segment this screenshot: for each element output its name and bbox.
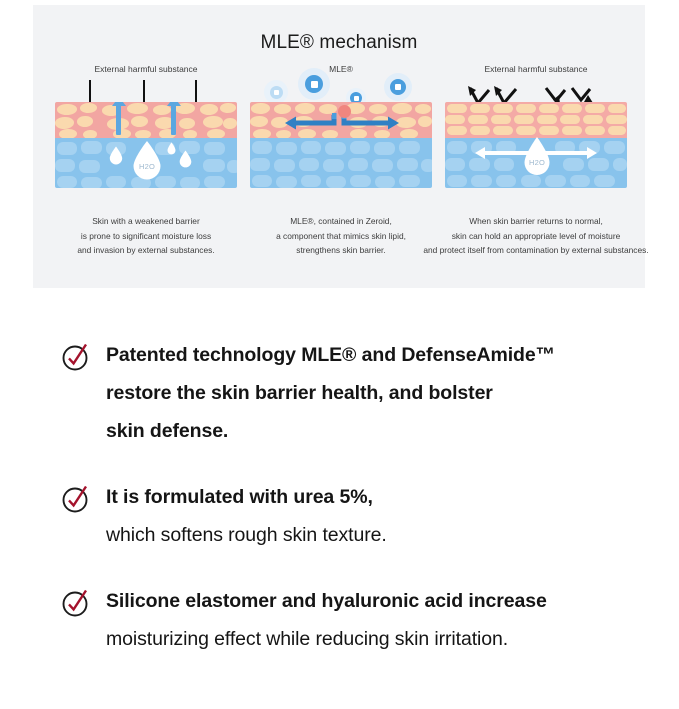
list-item-line: Patented technology MLE® and DefenseAmid… [106,336,679,374]
damage-spot-icon [338,105,351,118]
epidermis-layer [445,102,627,138]
water-droplet-icon [109,146,123,165]
diagram-title: MLE® mechanism [33,32,645,54]
mle-molecule-icon [264,80,288,104]
mle-molecule-icon [298,68,330,100]
panel-3-deflected-arrows [445,76,627,102]
list-item-line: restore the skin barrier health, and bol… [106,374,679,412]
list-item: Silicone elastomer and hyaluronic acid i… [0,582,679,658]
list-item: Patented technology MLE® and DefenseAmid… [0,336,679,450]
h2o-label: H2O [132,162,162,171]
check-circle-icon [60,483,92,515]
check-circle-icon [60,587,92,619]
list-item-line: which softens rough skin texture. [106,516,679,554]
panel-3-label: External harmful substance [445,63,627,75]
skin-cross-section-strengthening [250,102,432,188]
panel-1-incoming-arrows [55,76,237,102]
caption-line: When skin barrier returns to normal, [421,214,651,229]
panel-weakened-barrier: External harmful substance [55,63,237,188]
list-item: It is formulated with urea 5%, which sof… [0,478,679,554]
check-circle-icon [60,341,92,373]
panel-1-label: External harmful substance [55,63,237,75]
panel-2-molecules [250,76,432,102]
mle-mechanism-diagram: MLE® mechanism External harmful substanc… [33,5,645,288]
water-droplet-icon [179,150,192,168]
panel-2-label: MLE® [250,63,432,75]
skin-cross-section-weakened: H2O [55,102,237,188]
dermis-layer [250,138,432,188]
water-droplet-small-icon [167,142,176,155]
caption-line: and protect itself from contamination by… [421,243,651,258]
list-item-line: skin defense. [106,412,679,450]
h2o-label: H2O [523,158,551,167]
panel-restored-barrier: External harmful substance [445,63,627,188]
list-item-line: Silicone elastomer and hyaluronic acid i… [106,582,679,620]
water-droplet-large-icon [523,136,551,176]
panel-3-caption: When skin barrier returns to normal, ski… [421,214,651,258]
list-item-line: moisturizing effect while reducing skin … [106,620,679,658]
mle-molecule-icon [384,73,412,101]
water-droplet-large-icon [132,140,162,180]
panel-mle-action: MLE® [250,63,432,188]
skin-cross-section-restored: H2O [445,102,627,188]
benefits-list: Patented technology MLE® and DefenseAmid… [0,336,679,686]
list-item-line: It is formulated with urea 5%, [106,478,679,516]
epidermis-layer [55,102,237,138]
caption-line: skin can hold an appropriate level of mo… [421,229,651,244]
diagram-panels: External harmful substance [33,63,645,278]
